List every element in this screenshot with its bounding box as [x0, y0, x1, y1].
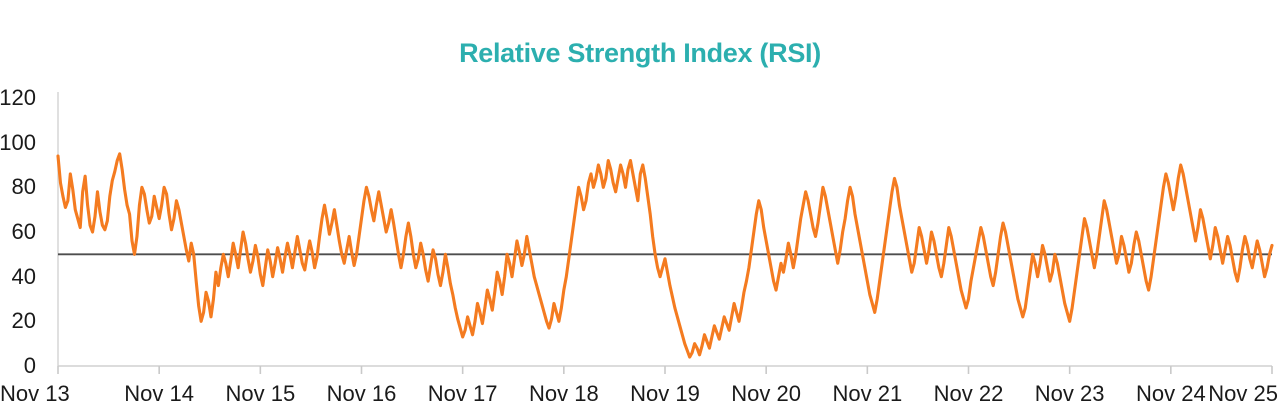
rsi-series-line	[58, 154, 1272, 357]
plot-area	[0, 0, 1280, 420]
axis-lines	[58, 92, 1272, 366]
rsi-chart: Relative Strength Index (RSI) 1201008060…	[0, 0, 1280, 420]
x-axis-ticks	[58, 366, 1272, 374]
